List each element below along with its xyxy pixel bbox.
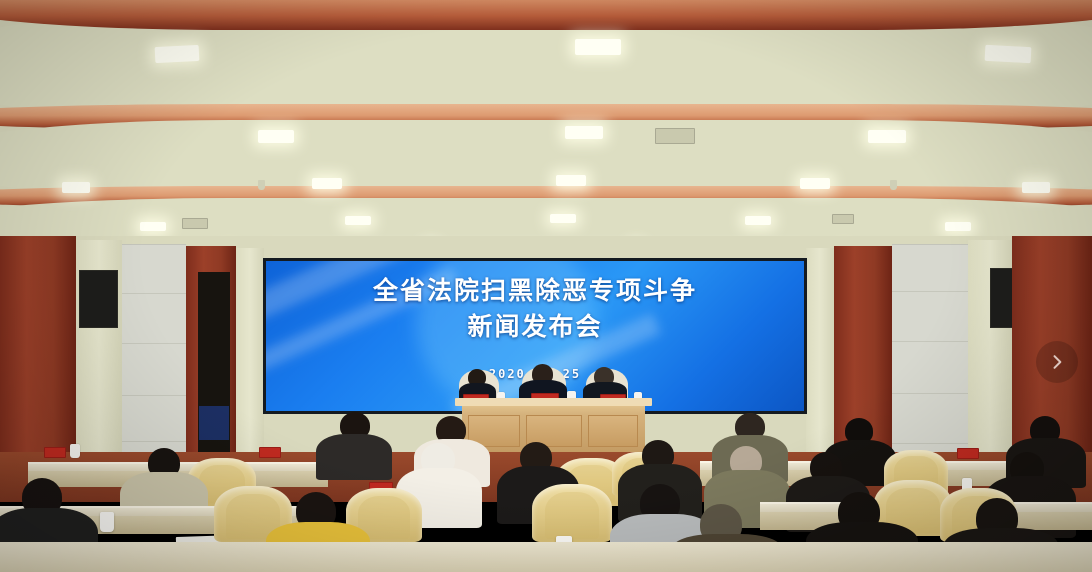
- ceiling-lamp: [258, 130, 294, 143]
- screen-headline-line2: 新闻发布会: [266, 311, 804, 343]
- ceiling-lamp: [312, 178, 342, 189]
- ceiling-lamp: [945, 222, 971, 231]
- ceiling-lamp: [140, 222, 166, 231]
- wall-cream-strip-right: [806, 248, 834, 466]
- ceiling-band-wood-1: [0, 0, 1092, 30]
- panel-seam: [122, 395, 186, 396]
- chevron-right-icon: [1047, 352, 1067, 372]
- ceiling-lamp: [800, 178, 830, 189]
- ceiling-lamp: [868, 130, 906, 143]
- ceiling-lamp: [62, 182, 90, 193]
- wall-cream-strip-left: [236, 248, 264, 466]
- air-vent: [182, 218, 208, 229]
- audience-placard: [957, 448, 979, 459]
- ceiling: [0, 0, 1092, 250]
- panel-seam: [122, 293, 186, 294]
- screen-headline: 全省法院扫黑除恶专项斗争 新闻发布会: [266, 275, 804, 343]
- ceiling-lamp: [155, 45, 200, 63]
- conference-hall-photo: 全省法院扫黑除恶专项斗争 新闻发布会 2020.12.25: [0, 0, 1092, 572]
- ceiling-lamp: [556, 175, 586, 186]
- ceiling-lamp: [565, 126, 603, 139]
- panel-seam: [892, 291, 968, 292]
- panel-seam: [122, 441, 186, 442]
- air-vent: [655, 128, 695, 144]
- ceiling-lamp: [985, 45, 1032, 63]
- carousel-next-button[interactable]: [1036, 341, 1078, 383]
- audience-cup: [70, 444, 80, 458]
- head-table-panel: [588, 415, 638, 447]
- ceiling-lamp: [575, 39, 621, 55]
- wall-panel-right: [892, 244, 968, 470]
- wall-panel-left: [122, 244, 186, 470]
- foreground-desk: [0, 542, 1092, 572]
- wall-speaker-left: [79, 270, 118, 328]
- audience-mug: [100, 512, 114, 532]
- ceiling-lamp: [745, 216, 771, 225]
- head-table: [462, 404, 645, 452]
- audience-chair: [532, 484, 612, 542]
- screen-headline-line1: 全省法院扫黑除恶专项斗争: [266, 275, 804, 307]
- panel-seam: [892, 393, 968, 394]
- wall-wood-column-left-outer: [0, 236, 76, 468]
- ceiling-lamp: [1022, 182, 1050, 193]
- ceiling-lamp: [550, 214, 576, 223]
- doorway-interior-panel: [199, 406, 229, 440]
- panel-seam: [892, 341, 968, 342]
- air-vent: [832, 214, 854, 224]
- panel-seam: [892, 443, 968, 444]
- audience-placard: [44, 447, 66, 458]
- ceiling-speaker: [890, 180, 897, 190]
- panel-seam: [122, 343, 186, 344]
- ceiling-lamp: [345, 216, 371, 225]
- audience-placard: [259, 447, 281, 458]
- ceiling-speaker: [258, 180, 265, 190]
- audience-body: [316, 434, 392, 480]
